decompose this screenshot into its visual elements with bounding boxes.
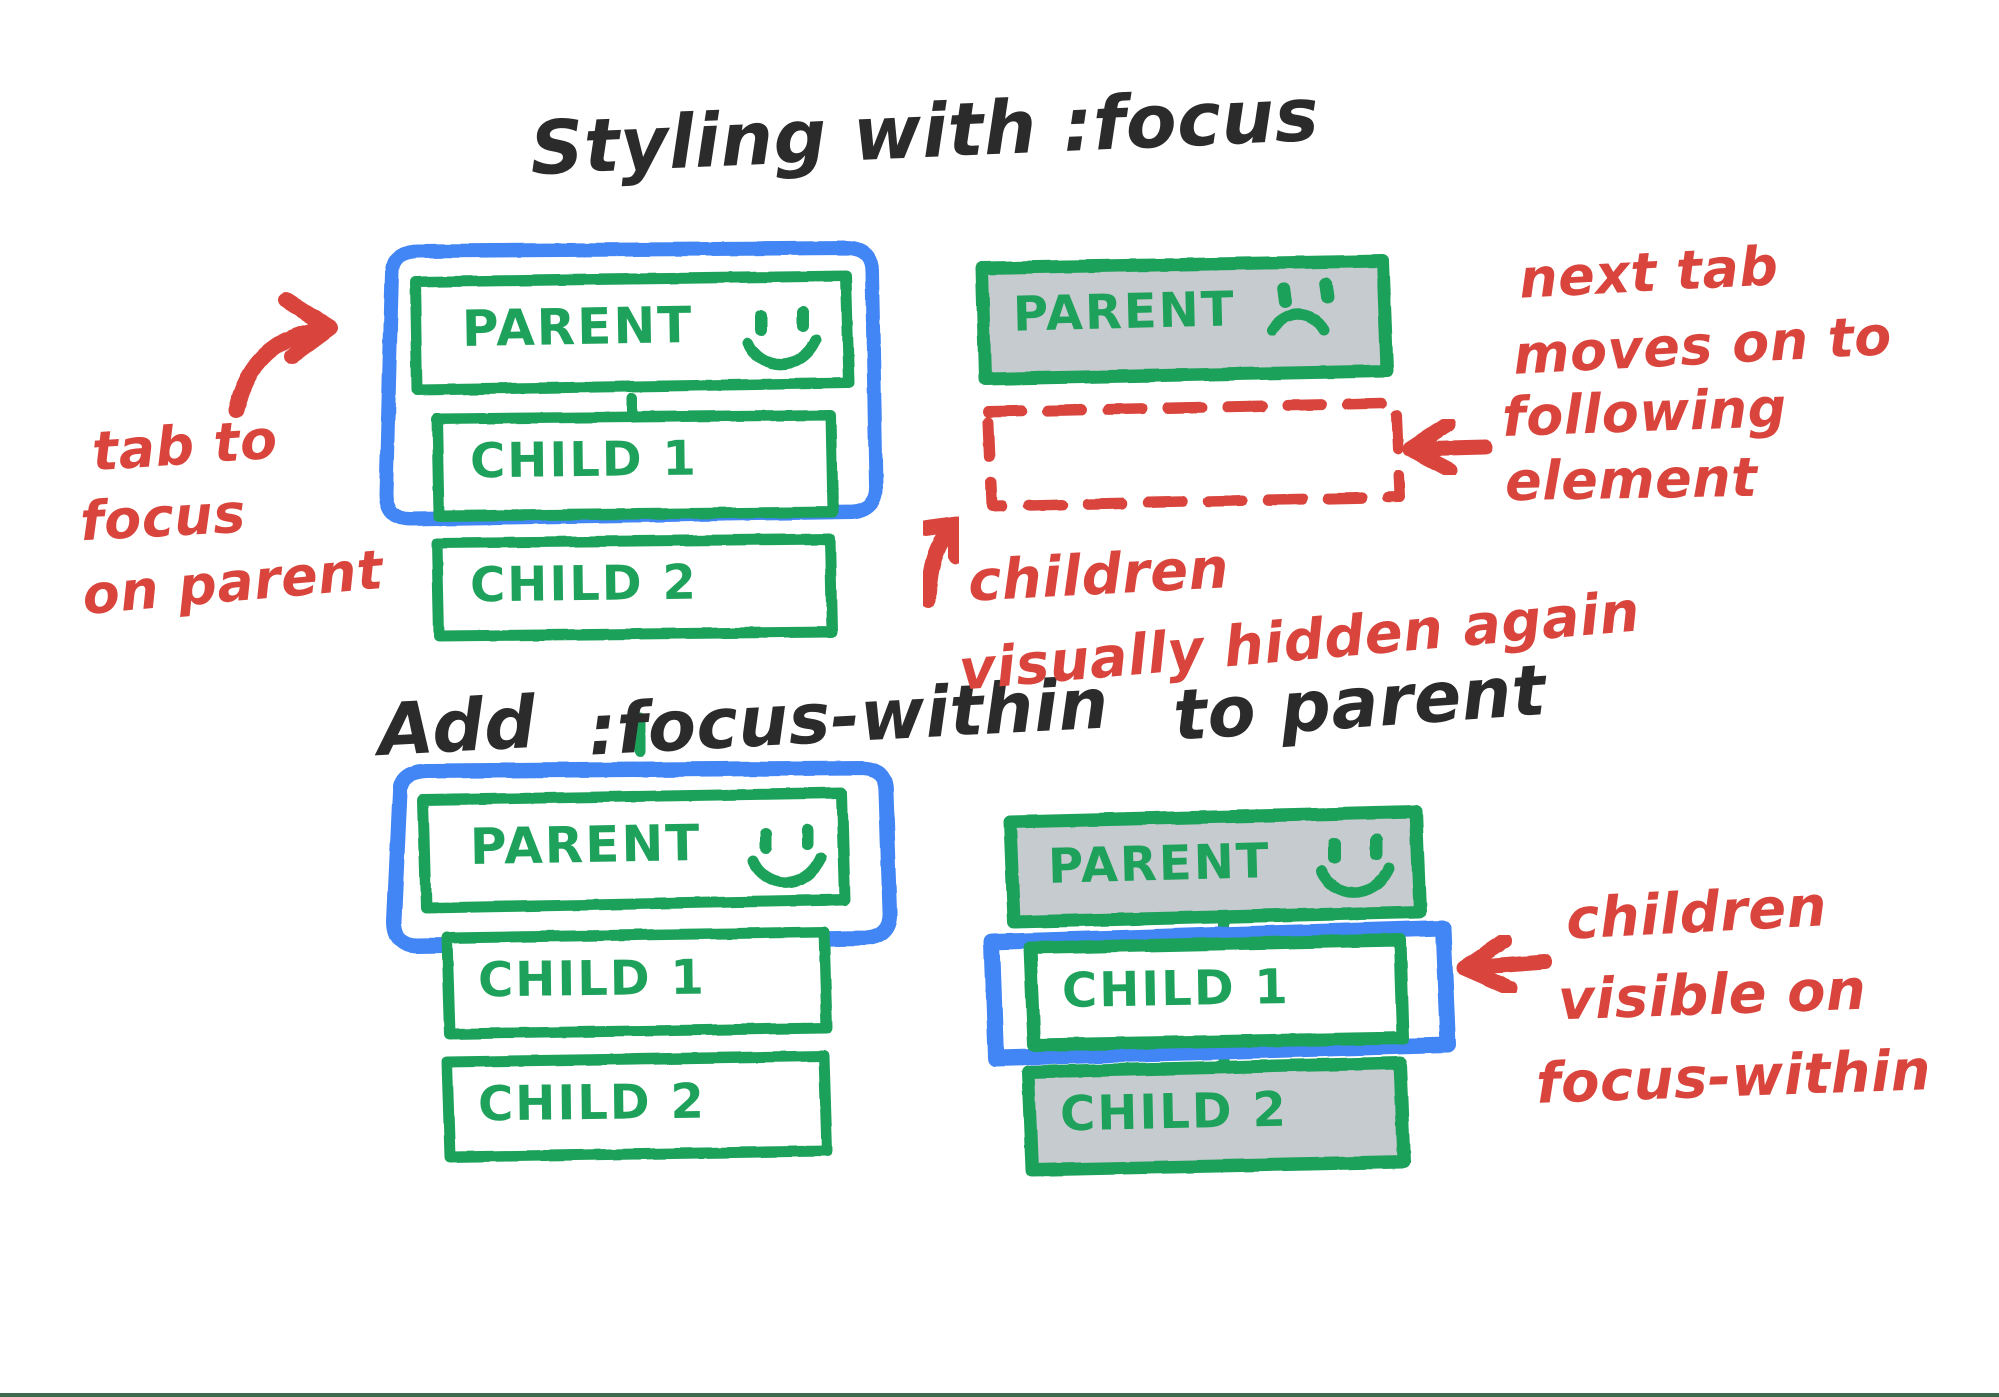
annotation-children-visible-line3: focus-within: [1535, 1042, 1932, 1113]
annotation-children-visible-line2: visible on: [1557, 962, 1867, 1030]
label-parent-top-right: PARENT: [1012, 285, 1236, 339]
label-parent-top-left: PARENT: [462, 300, 694, 355]
section-title-add-prefix: Add: [376, 686, 538, 768]
label-parent-bottom-left: PARENT: [470, 818, 702, 873]
annotation-tab-to-line1: tab to: [90, 412, 279, 480]
label-parent-bottom-right: PARENT: [1047, 837, 1271, 892]
arrow-left-children-visible-icon: [1464, 940, 1545, 988]
label-child1-top-left: CHILD 1: [470, 435, 698, 487]
annotation-next-tab-line4: element: [1505, 450, 1758, 509]
annotation-children-visible-line1: children: [1565, 878, 1829, 949]
annotation-children-hidden-line1: children: [967, 540, 1231, 611]
arrow-children-hidden-icon: [926, 524, 956, 600]
annotation-next-tab-line3: following: [1501, 380, 1787, 445]
label-child1-bottom-right: CHILD 1: [1062, 963, 1291, 1016]
bottom-divider: [0, 1393, 1999, 1397]
label-child2-top-left: CHILD 2: [470, 559, 698, 611]
annotation-tab-to-line2: focus: [79, 486, 247, 550]
arrow-left-next-tab-icon: [1410, 424, 1485, 470]
label-child1-bottom-left: CHILD 1: [478, 954, 706, 1006]
sketch-canvas: Styling with :focus Add :focus-within to…: [0, 0, 1999, 1397]
label-child2-bottom-left: CHILD 2: [478, 1078, 706, 1130]
dashed-empty-placeholder-box: [988, 403, 1400, 506]
annotation-next-tab-line1: next tab: [1518, 238, 1780, 307]
arrow-tab-to-parent-icon: [236, 300, 330, 410]
label-child2-bottom-right: CHILD 2: [1060, 1086, 1289, 1140]
